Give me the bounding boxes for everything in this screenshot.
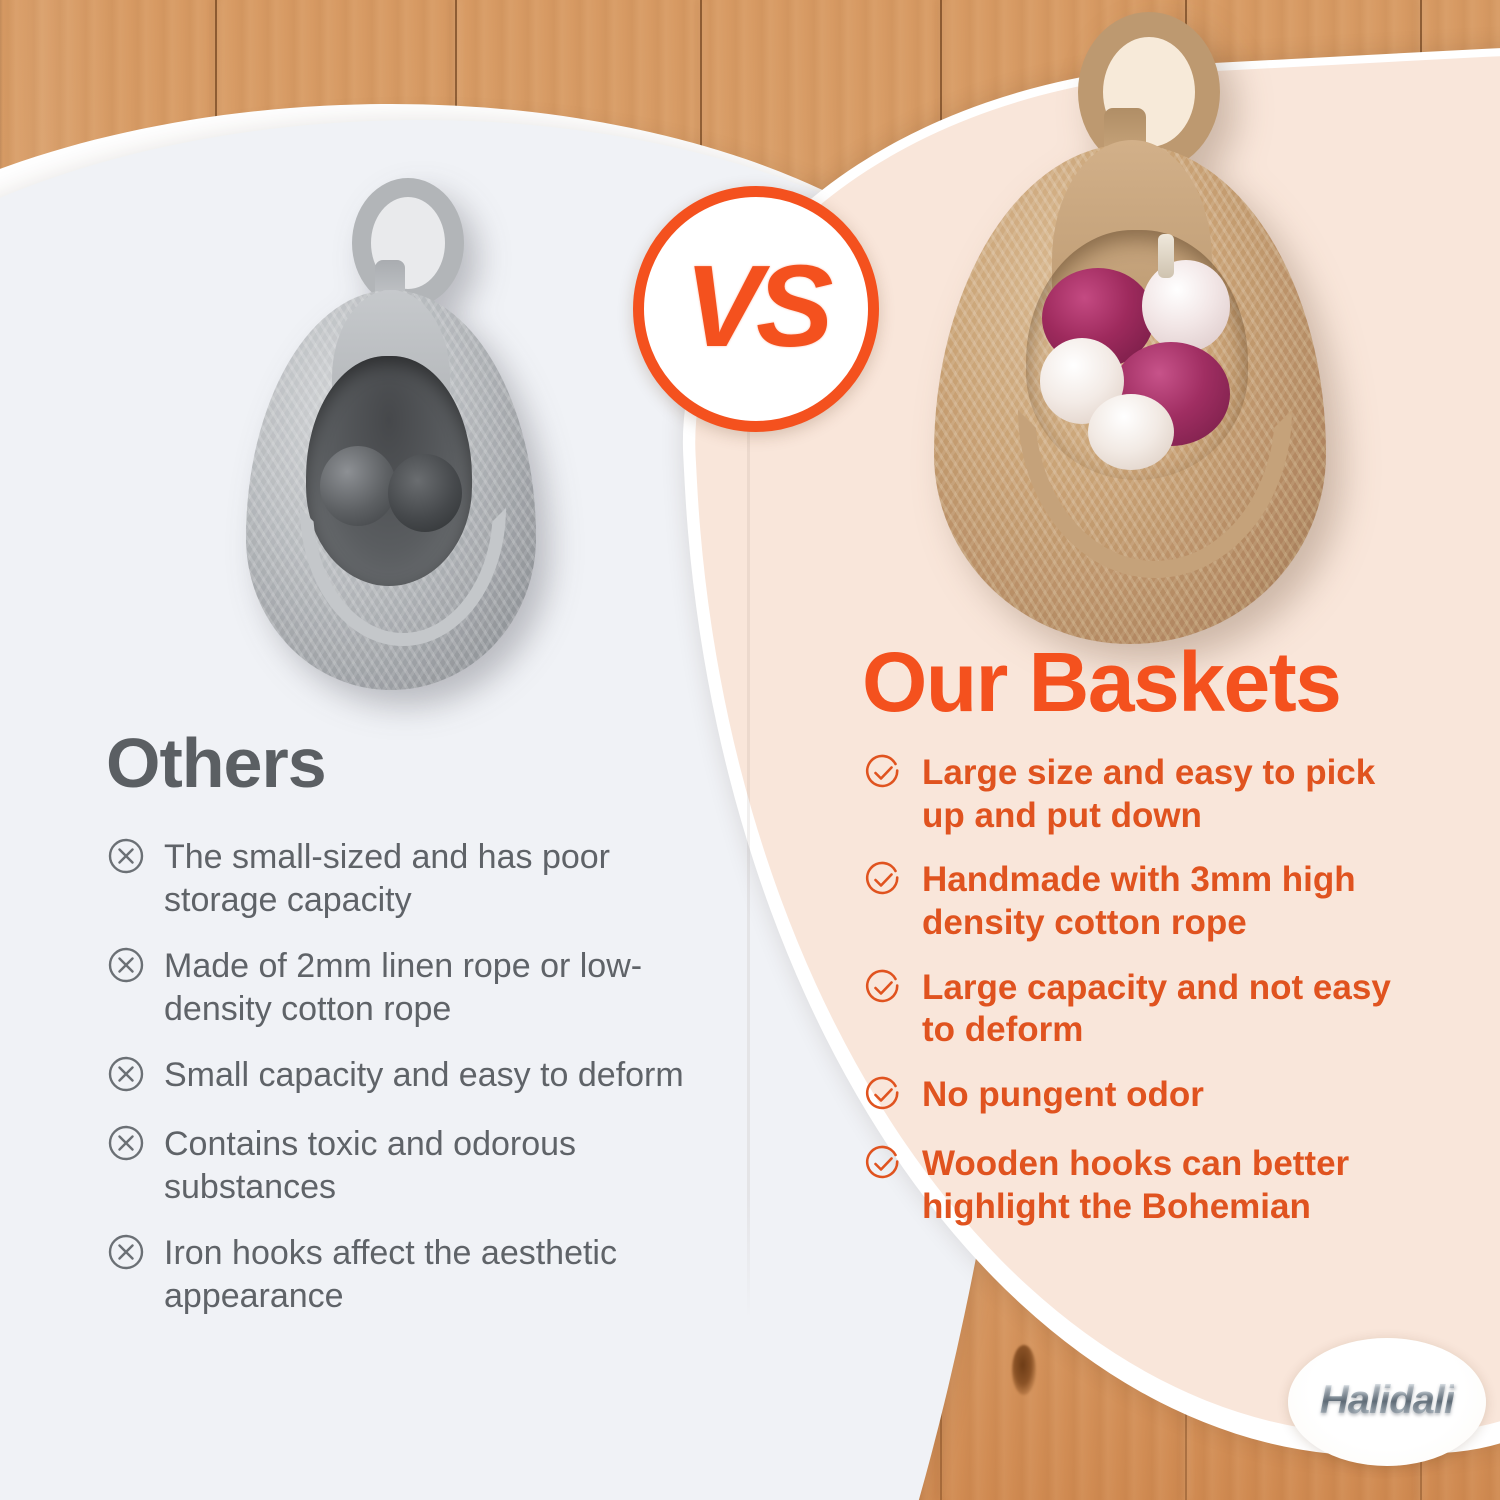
check-circle-icon [862,1074,904,1121]
check-circle-icon [862,859,904,906]
check-circle-icon [862,967,904,1014]
gray-basket-loop [352,178,464,308]
list-item: Wooden hooks can better highlight the Bo… [862,1143,1422,1228]
right-column: Our Baskets Large size and easy to pick … [862,640,1422,1251]
infographic-canvas: Others The small-sized and has poor stor… [0,0,1500,1500]
x-circle-icon [106,836,146,881]
vs-label: VS [685,248,828,364]
gray-basket-image [240,178,540,708]
others-heading: Others [106,728,726,798]
list-item-text: Handmade with 3mm high density cotton ro… [922,859,1422,944]
list-item: Iron hooks affect the aesthetic appearan… [106,1232,726,1317]
others-bullet-list: The small-sized and has poor storage cap… [106,836,726,1317]
list-item: Large size and easy to pick up and put d… [862,752,1422,837]
our-baskets-heading: Our Baskets [862,640,1422,724]
list-item: Made of 2mm linen rope or low-density co… [106,945,726,1030]
x-circle-icon [106,945,146,990]
list-item: Large capacity and not easy to deform [862,967,1422,1052]
list-item-text: Wooden hooks can better highlight the Bo… [922,1143,1422,1228]
x-circle-icon [106,1232,146,1277]
vs-badge: VS [633,186,879,432]
garlic-bulb [1142,260,1230,352]
check-circle-icon [862,1143,904,1190]
x-circle-icon [106,1054,146,1099]
garlic-stem [1158,234,1174,278]
list-item: Handmade with 3mm high density cotton ro… [862,859,1422,944]
list-item-text: Iron hooks affect the aesthetic appearan… [164,1232,726,1317]
list-item-text: Made of 2mm linen rope or low-density co… [164,945,726,1030]
brand-logo-text: Halidali [1320,1378,1454,1423]
list-item: The small-sized and has poor storage cap… [106,836,726,921]
list-item: Small capacity and easy to deform [106,1054,726,1099]
check-circle-icon [862,752,904,799]
list-item-text: Large capacity and not easy to deform [922,967,1422,1052]
tan-basket-image [930,12,1330,662]
left-column: Others The small-sized and has poor stor… [106,728,726,1341]
list-item-text: Small capacity and easy to deform [164,1054,726,1097]
list-item-text: Large size and easy to pick up and put d… [922,752,1422,837]
list-item-text: The small-sized and has poor storage cap… [164,836,726,921]
x-circle-icon [106,1123,146,1168]
list-item: No pungent odor [862,1074,1422,1121]
list-item: Contains toxic and odorous substances [106,1123,726,1208]
list-item-text: No pungent odor [922,1074,1422,1117]
brand-logo: Halidali [1288,1338,1486,1466]
list-item-text: Contains toxic and odorous substances [164,1123,726,1208]
our-baskets-bullet-list: Large size and easy to pick up and put d… [862,752,1422,1229]
